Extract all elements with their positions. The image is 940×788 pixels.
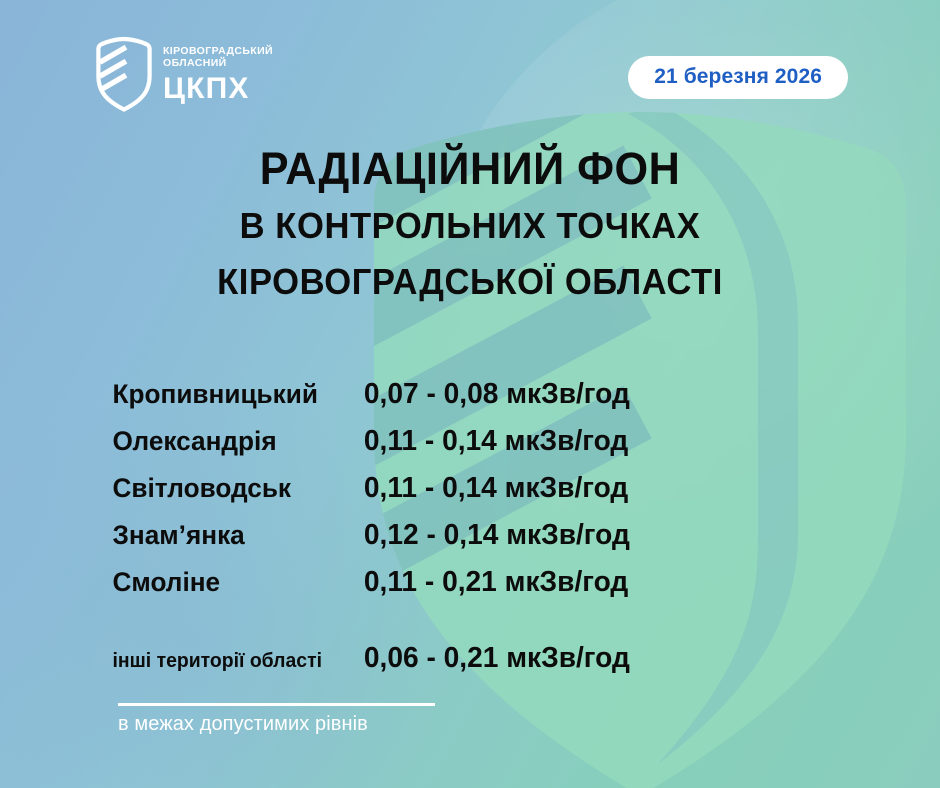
- table-row: Олександрія 0,11 - 0,14 мкЗв/год: [0, 425, 940, 472]
- page-title: РАДІАЦІЙНИЙ ФОН В КОНТРОЛЬНИХ ТОЧКАХ КІР…: [0, 140, 940, 310]
- radiation-value: 0,12 - 0,14 мкЗв/год: [360, 519, 630, 552]
- radiation-value: 0,07 - 0,08 мкЗв/год: [360, 378, 630, 411]
- location-label: Світловодськ: [0, 473, 349, 504]
- infographic-poster: КІРОВОГРАДСЬКИЙ ОБЛАСНИЙ ЦКПХ 21 березня…: [0, 0, 940, 788]
- title-line-3: КІРОВОГРАДСЬКОЇ ОБЛАСТІ: [19, 254, 921, 310]
- radiation-value: 0,11 - 0,21 мкЗв/год: [360, 566, 628, 599]
- table-row: Світловодськ 0,11 - 0,14 мкЗв/год: [0, 472, 940, 519]
- logo-line-1: КІРОВОГРАДСЬКИЙ: [163, 45, 273, 58]
- table-row: Смоліне 0,11 - 0,21 мкЗв/год: [0, 566, 940, 613]
- radiation-value: 0,11 - 0,14 мкЗв/год: [360, 472, 628, 505]
- date-badge: 21 березня 2026: [628, 56, 848, 99]
- measurements-table: Кропивницький 0,07 - 0,08 мкЗв/год Олекс…: [0, 378, 940, 689]
- title-line-2: В КОНТРОЛЬНИХ ТОЧКАХ: [19, 198, 921, 254]
- logo-abbreviation: ЦКПХ: [163, 73, 273, 104]
- table-row: Знам’янка 0,12 - 0,14 мкЗв/год: [0, 519, 940, 566]
- title-line-1: РАДІАЦІЙНИЙ ФОН: [19, 140, 921, 198]
- footnote: в межах допустимих рівнів: [118, 703, 538, 736]
- table-row: Кропивницький 0,07 - 0,08 мкЗв/год: [0, 378, 940, 425]
- footnote-text: в межах допустимих рівнів: [118, 713, 538, 736]
- location-label: Кропивницький: [0, 379, 349, 410]
- footnote-divider: [118, 703, 435, 706]
- radiation-value: 0,11 - 0,14 мкЗв/год: [360, 425, 628, 458]
- location-label: Олександрія: [0, 426, 349, 457]
- logo-line-2: ОБЛАСНИЙ: [163, 57, 273, 70]
- location-label: інші території області: [0, 650, 349, 673]
- table-row-other-territories: інші території області 0,06 - 0,21 мкЗв/…: [0, 642, 940, 689]
- radiation-value: 0,06 - 0,21 мкЗв/год: [360, 642, 630, 675]
- location-label: Знам’янка: [0, 520, 349, 551]
- location-label: Смоліне: [0, 567, 349, 598]
- logo-wordmark: КІРОВОГРАДСЬКИЙ ОБЛАСНИЙ ЦКПХ: [163, 45, 273, 104]
- shield-with-stripes-icon: [96, 36, 152, 112]
- date-badge-label: 21 березня 2026: [654, 65, 822, 89]
- organization-logo: КІРОВОГРАДСЬКИЙ ОБЛАСНИЙ ЦКПХ: [96, 36, 273, 112]
